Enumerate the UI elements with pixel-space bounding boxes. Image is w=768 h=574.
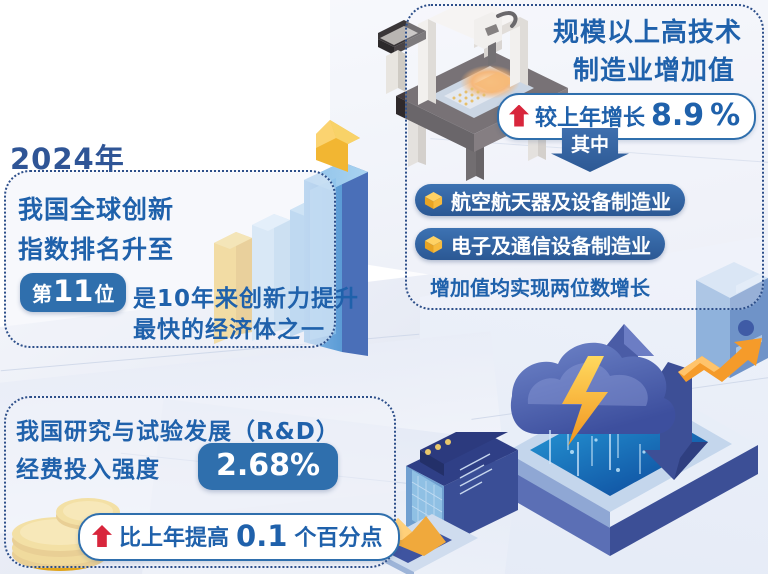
hightech-growth-suffix: % bbox=[710, 98, 740, 133]
rd-headline-line-1: 我国研究与试验发展（R&D） bbox=[16, 412, 340, 446]
hightech-growth-prefix: 较上年增长 bbox=[535, 100, 645, 132]
hightech-title-line-1: 规模以上高技术 bbox=[553, 12, 742, 49]
year-title: 2024年 bbox=[10, 136, 125, 178]
rank-number: 11 bbox=[53, 277, 93, 306]
innovation-headline-line-1: 我国全球创新 bbox=[18, 190, 174, 226]
hightech-industry-label-0: 航空航天器及设备制造业 bbox=[451, 186, 671, 215]
cube-icon bbox=[424, 191, 443, 210]
among-label: 其中 bbox=[551, 130, 629, 157]
rd-intensity-value-badge: 2.68% bbox=[198, 443, 338, 490]
hightech-growth-number: 8.9 bbox=[651, 98, 704, 133]
orange-zigzag-arrow-illustration bbox=[676, 320, 768, 400]
rank-suffix: 位 bbox=[94, 278, 114, 307]
up-arrow-icon bbox=[92, 525, 112, 547]
infographic-canvas: 2024年 我国全球创新 指数排名升至 第 11 位 是10年来创新力提升 最快… bbox=[0, 0, 768, 574]
rd-growth-suffix: 个百分点 bbox=[294, 520, 382, 552]
innovation-rank-badge: 第 11 位 bbox=[20, 273, 126, 312]
innovation-subtext-line-2: 最快的经济体之一 bbox=[133, 310, 325, 344]
background-hairline-4 bbox=[471, 377, 768, 420]
up-arrow-icon bbox=[509, 105, 529, 127]
innovation-subtext-line-1: 是10年来创新力提升 bbox=[133, 279, 359, 313]
hightech-note: 增加值均实现两位数增长 bbox=[430, 272, 650, 301]
hightech-industry-label-1: 电子及通信设备制造业 bbox=[451, 230, 651, 259]
rd-growth-prefix: 比上年提高 bbox=[119, 520, 229, 552]
cube-icon bbox=[424, 235, 443, 254]
hightech-industry-item-1: 电子及通信设备制造业 bbox=[415, 228, 665, 260]
among-down-arrow: 其中 bbox=[551, 128, 629, 172]
hightech-title-line-2: 制造业增加值 bbox=[573, 50, 735, 87]
rd-headline-line-2: 经费投入强度 bbox=[16, 450, 160, 484]
rank-prefix: 第 bbox=[32, 278, 52, 307]
hightech-industry-item-0: 航空航天器及设备制造业 bbox=[415, 184, 685, 216]
rd-growth-number: 0.1 bbox=[236, 519, 287, 553]
rd-growth-pill: 比上年提高 0.1 个百分点 bbox=[78, 513, 400, 561]
innovation-headline-line-2: 指数排名升至 bbox=[18, 230, 174, 266]
cloud-computing-platform-illustration bbox=[468, 300, 768, 574]
